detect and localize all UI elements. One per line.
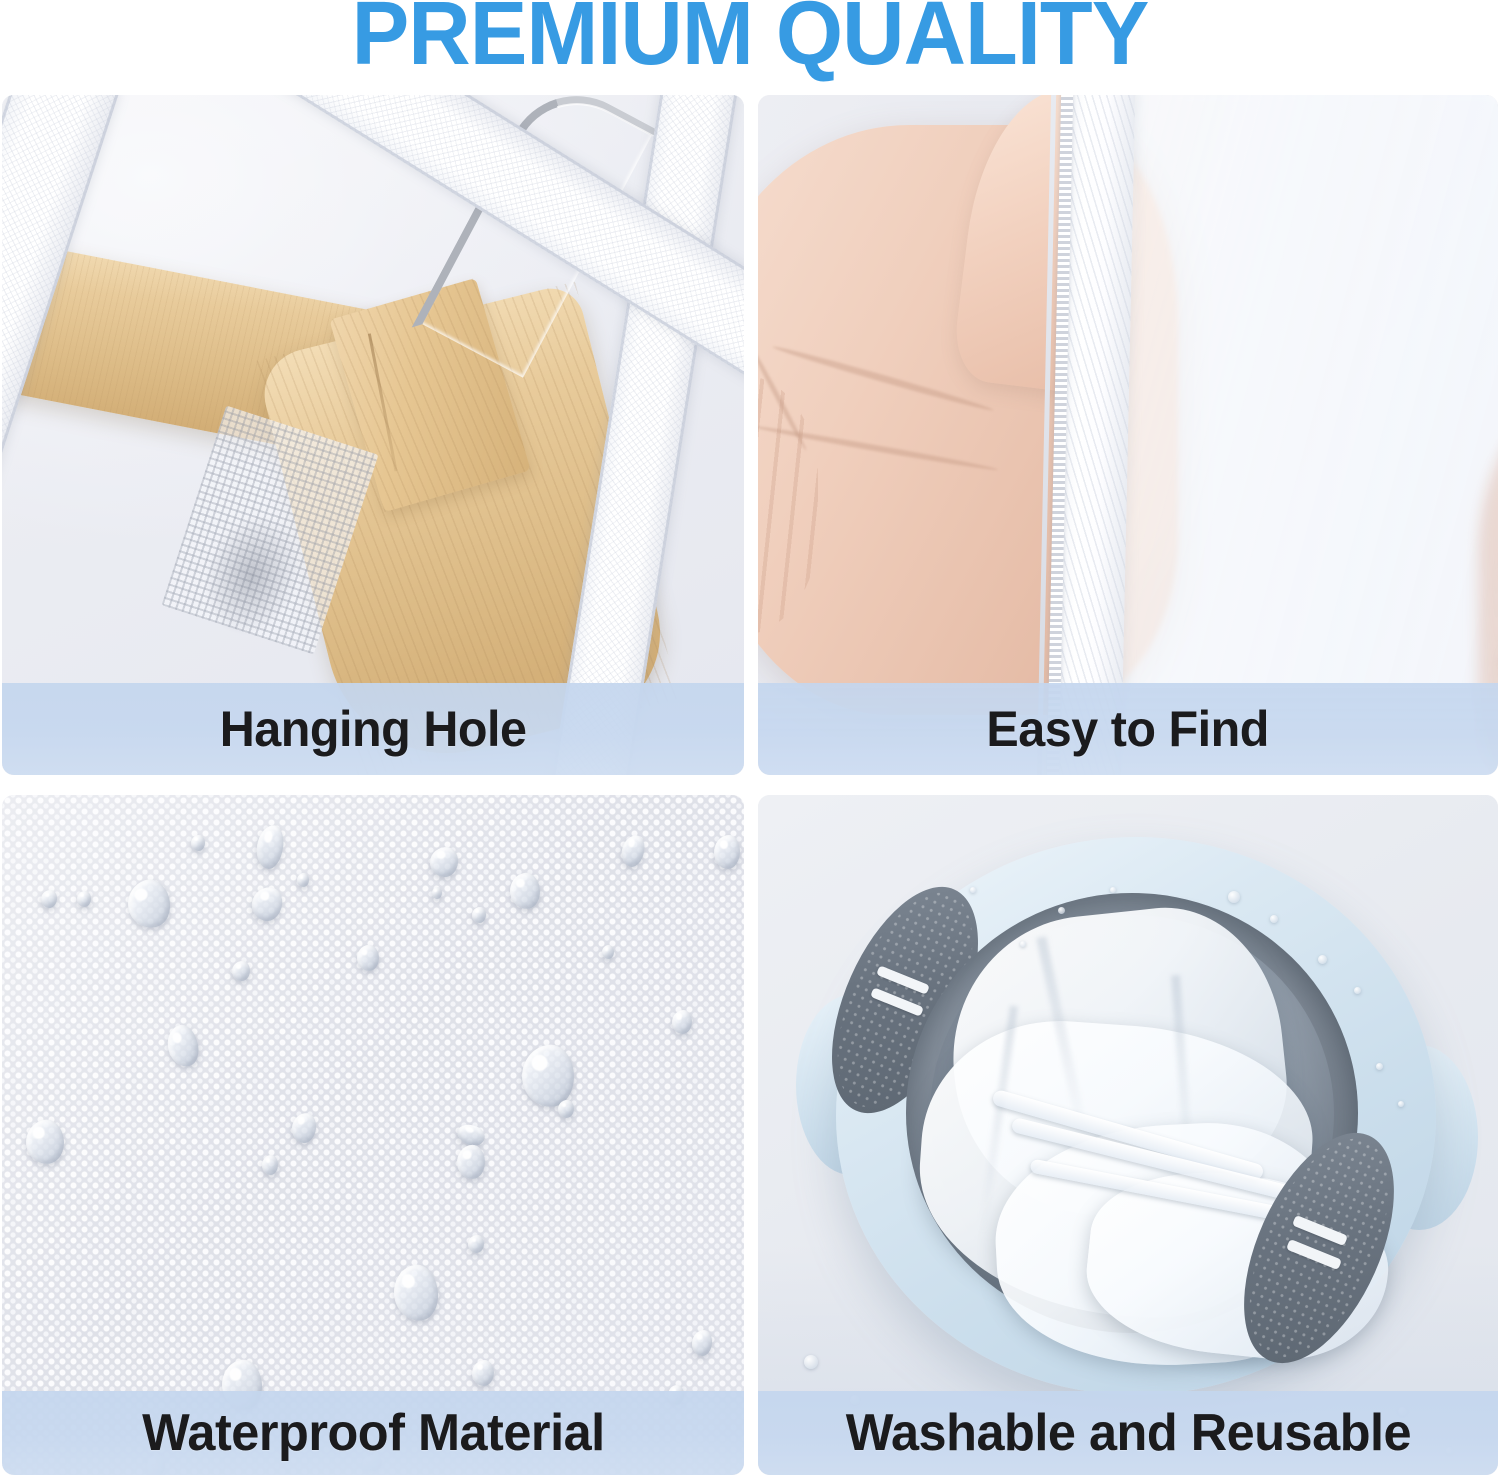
feature-panel-waterproof-material: Waterproof Material: [2, 795, 744, 1475]
water-bead: [1228, 891, 1240, 903]
panel-caption-label: Washable and Reusable: [845, 1403, 1410, 1463]
water-bead: [1318, 955, 1327, 964]
water-droplet: [714, 835, 740, 869]
photo-hanging-hole: [2, 95, 744, 775]
water-bead: [1376, 1063, 1383, 1070]
photo-waterproof-fabric: [2, 795, 744, 1475]
panel-caption-bar: Washable and Reusable: [758, 1391, 1498, 1475]
water-droplet: [602, 945, 614, 959]
photo-washable-basin: [758, 795, 1498, 1475]
panel-caption-label: Easy to Find: [987, 700, 1270, 758]
panel-caption-label: Hanging Hole: [220, 700, 527, 758]
infographic-page: PREMIUM QUALITY: [0, 0, 1500, 1477]
water-bead: [1270, 915, 1278, 923]
panel-caption-bar: Waterproof Material: [2, 1391, 744, 1475]
water-bead: [1020, 941, 1026, 947]
water-droplet: [77, 891, 91, 907]
water-droplet: [191, 835, 205, 851]
feature-panel-easy-to-find: Easy to Find: [758, 95, 1498, 775]
water-bead: [1058, 907, 1065, 914]
water-droplet: [432, 887, 442, 899]
panel-caption-label: Waterproof Material: [142, 1403, 605, 1463]
water-droplet: [672, 1010, 692, 1034]
header: PREMIUM QUALITY: [0, 0, 1500, 92]
water-bead: [1354, 987, 1361, 994]
feature-panel-hanging-hole: Hanging Hole: [2, 95, 744, 775]
water-bead: [970, 887, 976, 893]
water-droplet: [262, 1155, 278, 1175]
panel-caption-bar: Easy to Find: [758, 683, 1498, 775]
water-bead: [1110, 887, 1116, 893]
panel-caption-bar: Hanging Hole: [2, 683, 744, 775]
water-droplet: [232, 961, 250, 981]
translucent-bag-sheet: [1088, 95, 1498, 775]
water-bead: [804, 1355, 818, 1369]
feature-panel-washable-and-reusable: Washable and Reusable: [758, 795, 1498, 1475]
water-droplet: [472, 1360, 494, 1386]
page-title: PREMIUM QUALITY: [352, 0, 1149, 74]
feature-grid: Hanging Hole: [0, 95, 1500, 1477]
water-droplet: [297, 873, 309, 887]
photo-easy-to-find: [758, 95, 1498, 775]
water-droplet: [468, 1235, 484, 1253]
water-bead: [1398, 1101, 1404, 1107]
water-droplet: [472, 907, 486, 923]
water-droplet: [558, 1100, 574, 1118]
